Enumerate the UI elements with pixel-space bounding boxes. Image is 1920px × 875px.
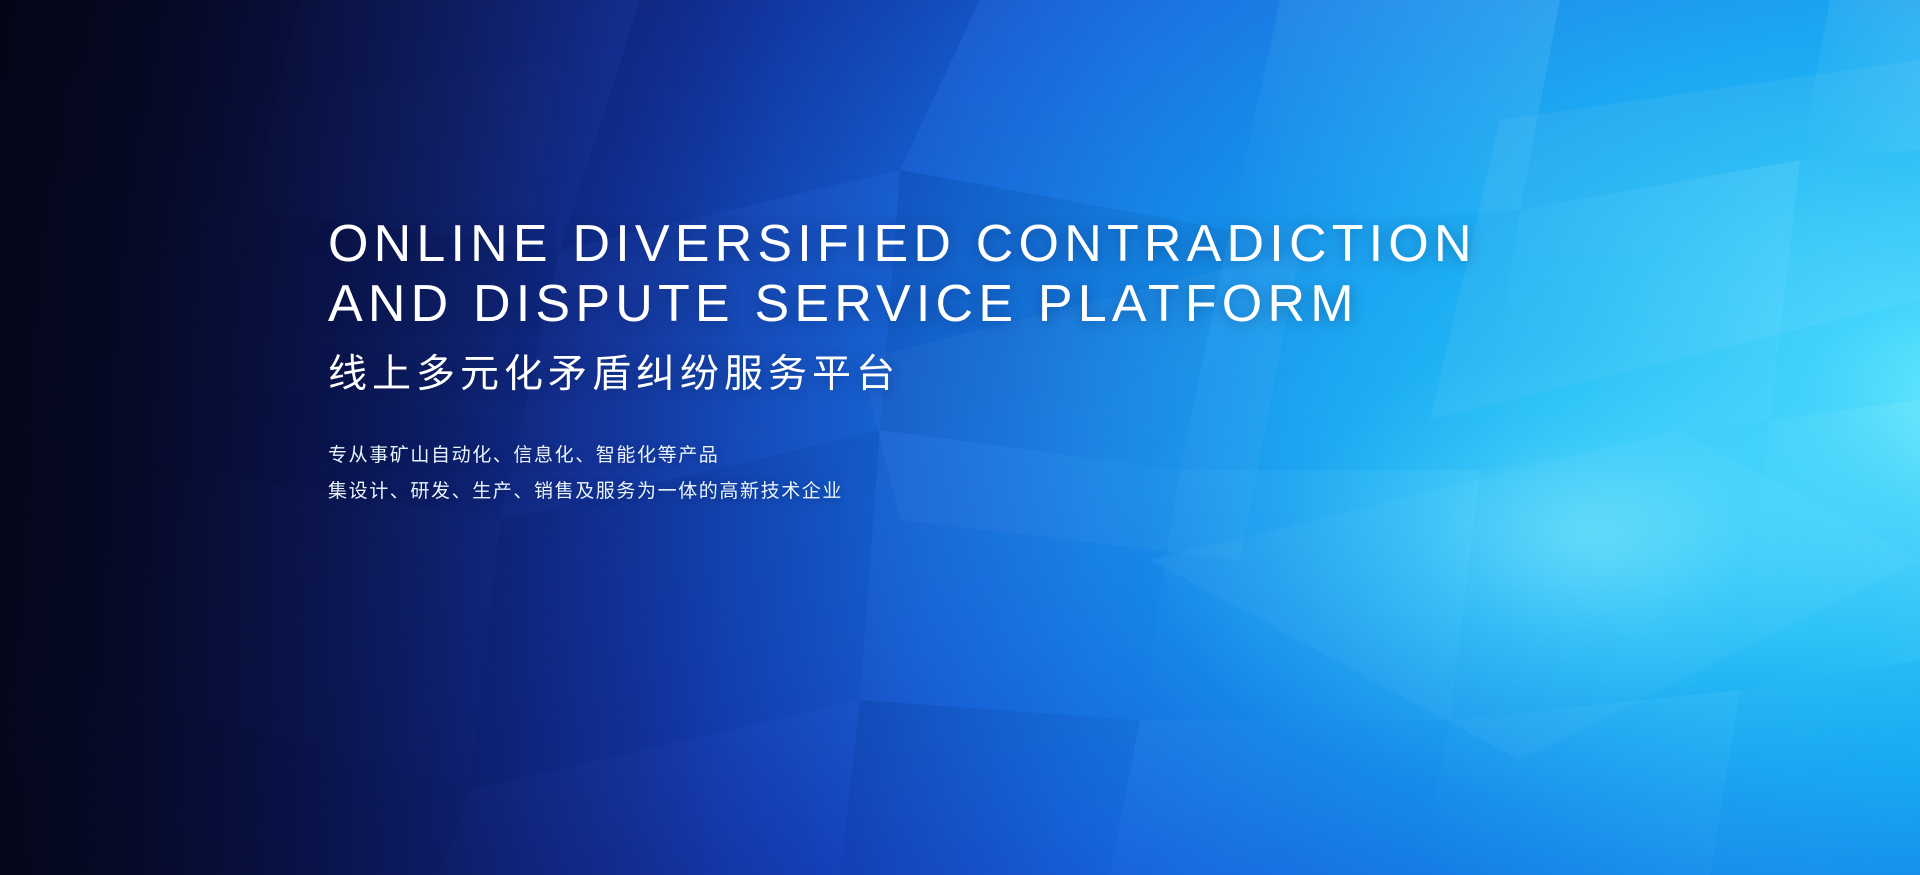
page-title: ONLINE DIVERSIFIED CONTRADICTION AND DIS… <box>328 214 1678 334</box>
description-line-1: 专从事矿山自动化、信息化、智能化等产品 <box>328 438 1678 474</box>
hero-content: ONLINE DIVERSIFIED CONTRADICTION AND DIS… <box>328 214 1678 510</box>
page-description: 专从事矿山自动化、信息化、智能化等产品 集设计、研发、生产、销售及服务为一体的高… <box>328 438 1678 510</box>
hero-banner: ONLINE DIVERSIFIED CONTRADICTION AND DIS… <box>0 0 1920 875</box>
headline-line-2: AND DISPUTE SERVICE PLATFORM <box>328 274 1678 334</box>
page-subtitle: 线上多元化矛盾纠纷服务平台 <box>328 350 1678 400</box>
description-line-2: 集设计、研发、生产、销售及服务为一体的高新技术企业 <box>328 474 1678 510</box>
headline-line-1: ONLINE DIVERSIFIED CONTRADICTION <box>328 214 1678 274</box>
